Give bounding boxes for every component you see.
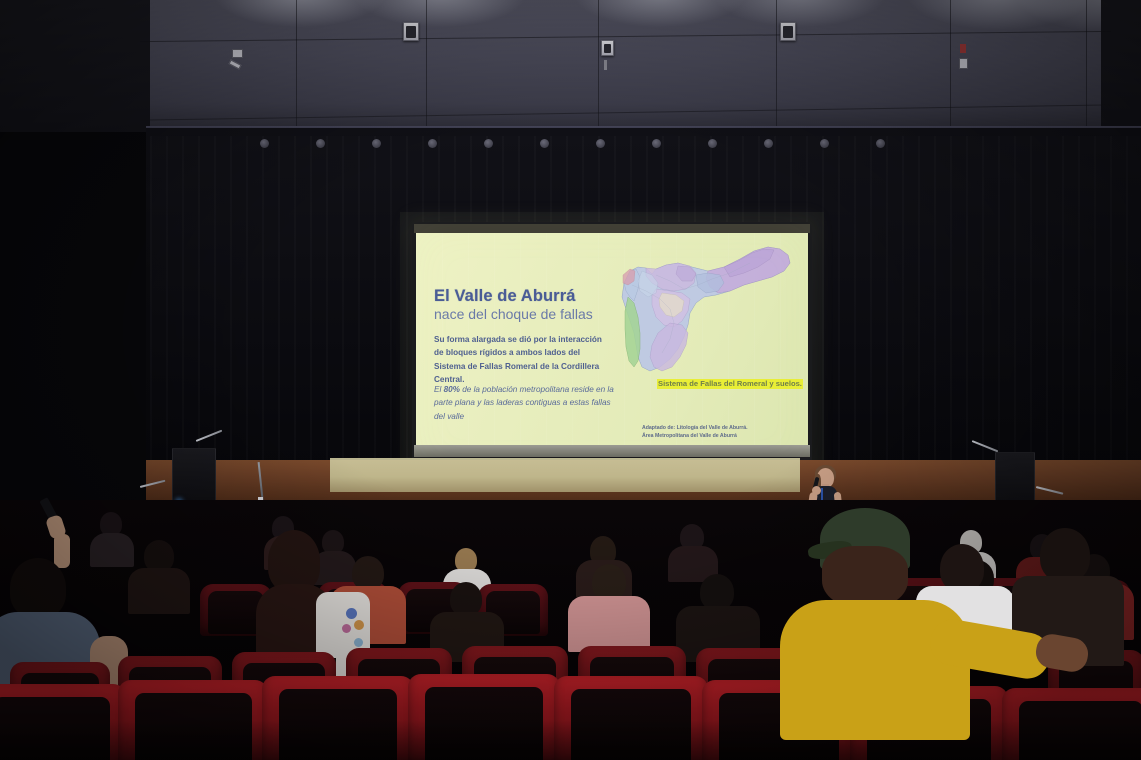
- valle-de-aburra-map: [612, 241, 797, 391]
- floral-print: [342, 624, 351, 633]
- slide-subtitle: nace del choque de fallas: [434, 307, 593, 322]
- ceiling-seam: [950, 0, 951, 132]
- ceiling-left-shadow: [0, 0, 150, 132]
- map-svg: [612, 241, 797, 391]
- auditorium-scene: El Valle de Aburrá nace del choque de fa…: [0, 0, 1141, 760]
- emergency-light-base-icon: [959, 58, 968, 69]
- stage-floor-lit-area: [330, 458, 800, 492]
- slide-body-2-bold: 80%: [444, 385, 460, 394]
- emergency-light-icon: [960, 44, 966, 53]
- map-credit-line-1: Adaptado de: Litología del Valle de Abur…: [642, 425, 748, 433]
- theater-seat[interactable]: [1002, 688, 1141, 760]
- projection-screen-top-bar: [414, 224, 810, 233]
- projection-screen: El Valle de Aburrá nace del choque de fa…: [416, 233, 808, 445]
- wall-cable: [604, 60, 607, 70]
- map-legend-label: Sistema de Fallas del Romeral y suelos.: [657, 379, 803, 389]
- theater-seat[interactable]: [408, 674, 560, 760]
- ceiling-right-shadow: [1101, 0, 1141, 132]
- slide-body-paragraph-2: El 80% de la población metropolitana res…: [434, 383, 614, 423]
- slide-body-2-rest: de la población metropolitana reside en …: [434, 385, 614, 421]
- floral-print: [354, 620, 364, 630]
- ceiling-seam: [1086, 0, 1087, 132]
- theater-seat[interactable]: [0, 684, 126, 760]
- ceiling-seam: [776, 0, 777, 132]
- ceiling-seam: [426, 0, 427, 132]
- wall-sensor-icon: [232, 49, 243, 58]
- map-credit-line-2: Área Metropolitana del Valle de Aburrá: [642, 433, 748, 441]
- presenter-hand: [812, 486, 821, 495]
- slide-title: El Valle de Aburrá: [434, 288, 576, 305]
- map-credit: Adaptado de: Litología del Valle de Abur…: [642, 425, 748, 440]
- stage-light-bar: [260, 139, 900, 153]
- wall-speaker-icon: [403, 22, 419, 41]
- slide-body-2-prefix: El: [434, 385, 444, 394]
- raised-arm: [54, 534, 70, 568]
- audience-area: [0, 500, 1141, 760]
- ceiling-seam: [296, 0, 297, 132]
- slide-body-paragraph-1: Su forma alargada se dió por la interacc…: [434, 333, 609, 386]
- projection-screen-bottom-bar: [414, 445, 810, 457]
- theater-seat[interactable]: [262, 676, 414, 760]
- theater-seat[interactable]: [118, 680, 268, 760]
- floral-print: [354, 638, 363, 647]
- wall-speaker-icon: [780, 22, 796, 41]
- theater-seat[interactable]: [554, 676, 708, 760]
- floral-print: [346, 608, 357, 619]
- wall-speaker-icon: [601, 40, 614, 56]
